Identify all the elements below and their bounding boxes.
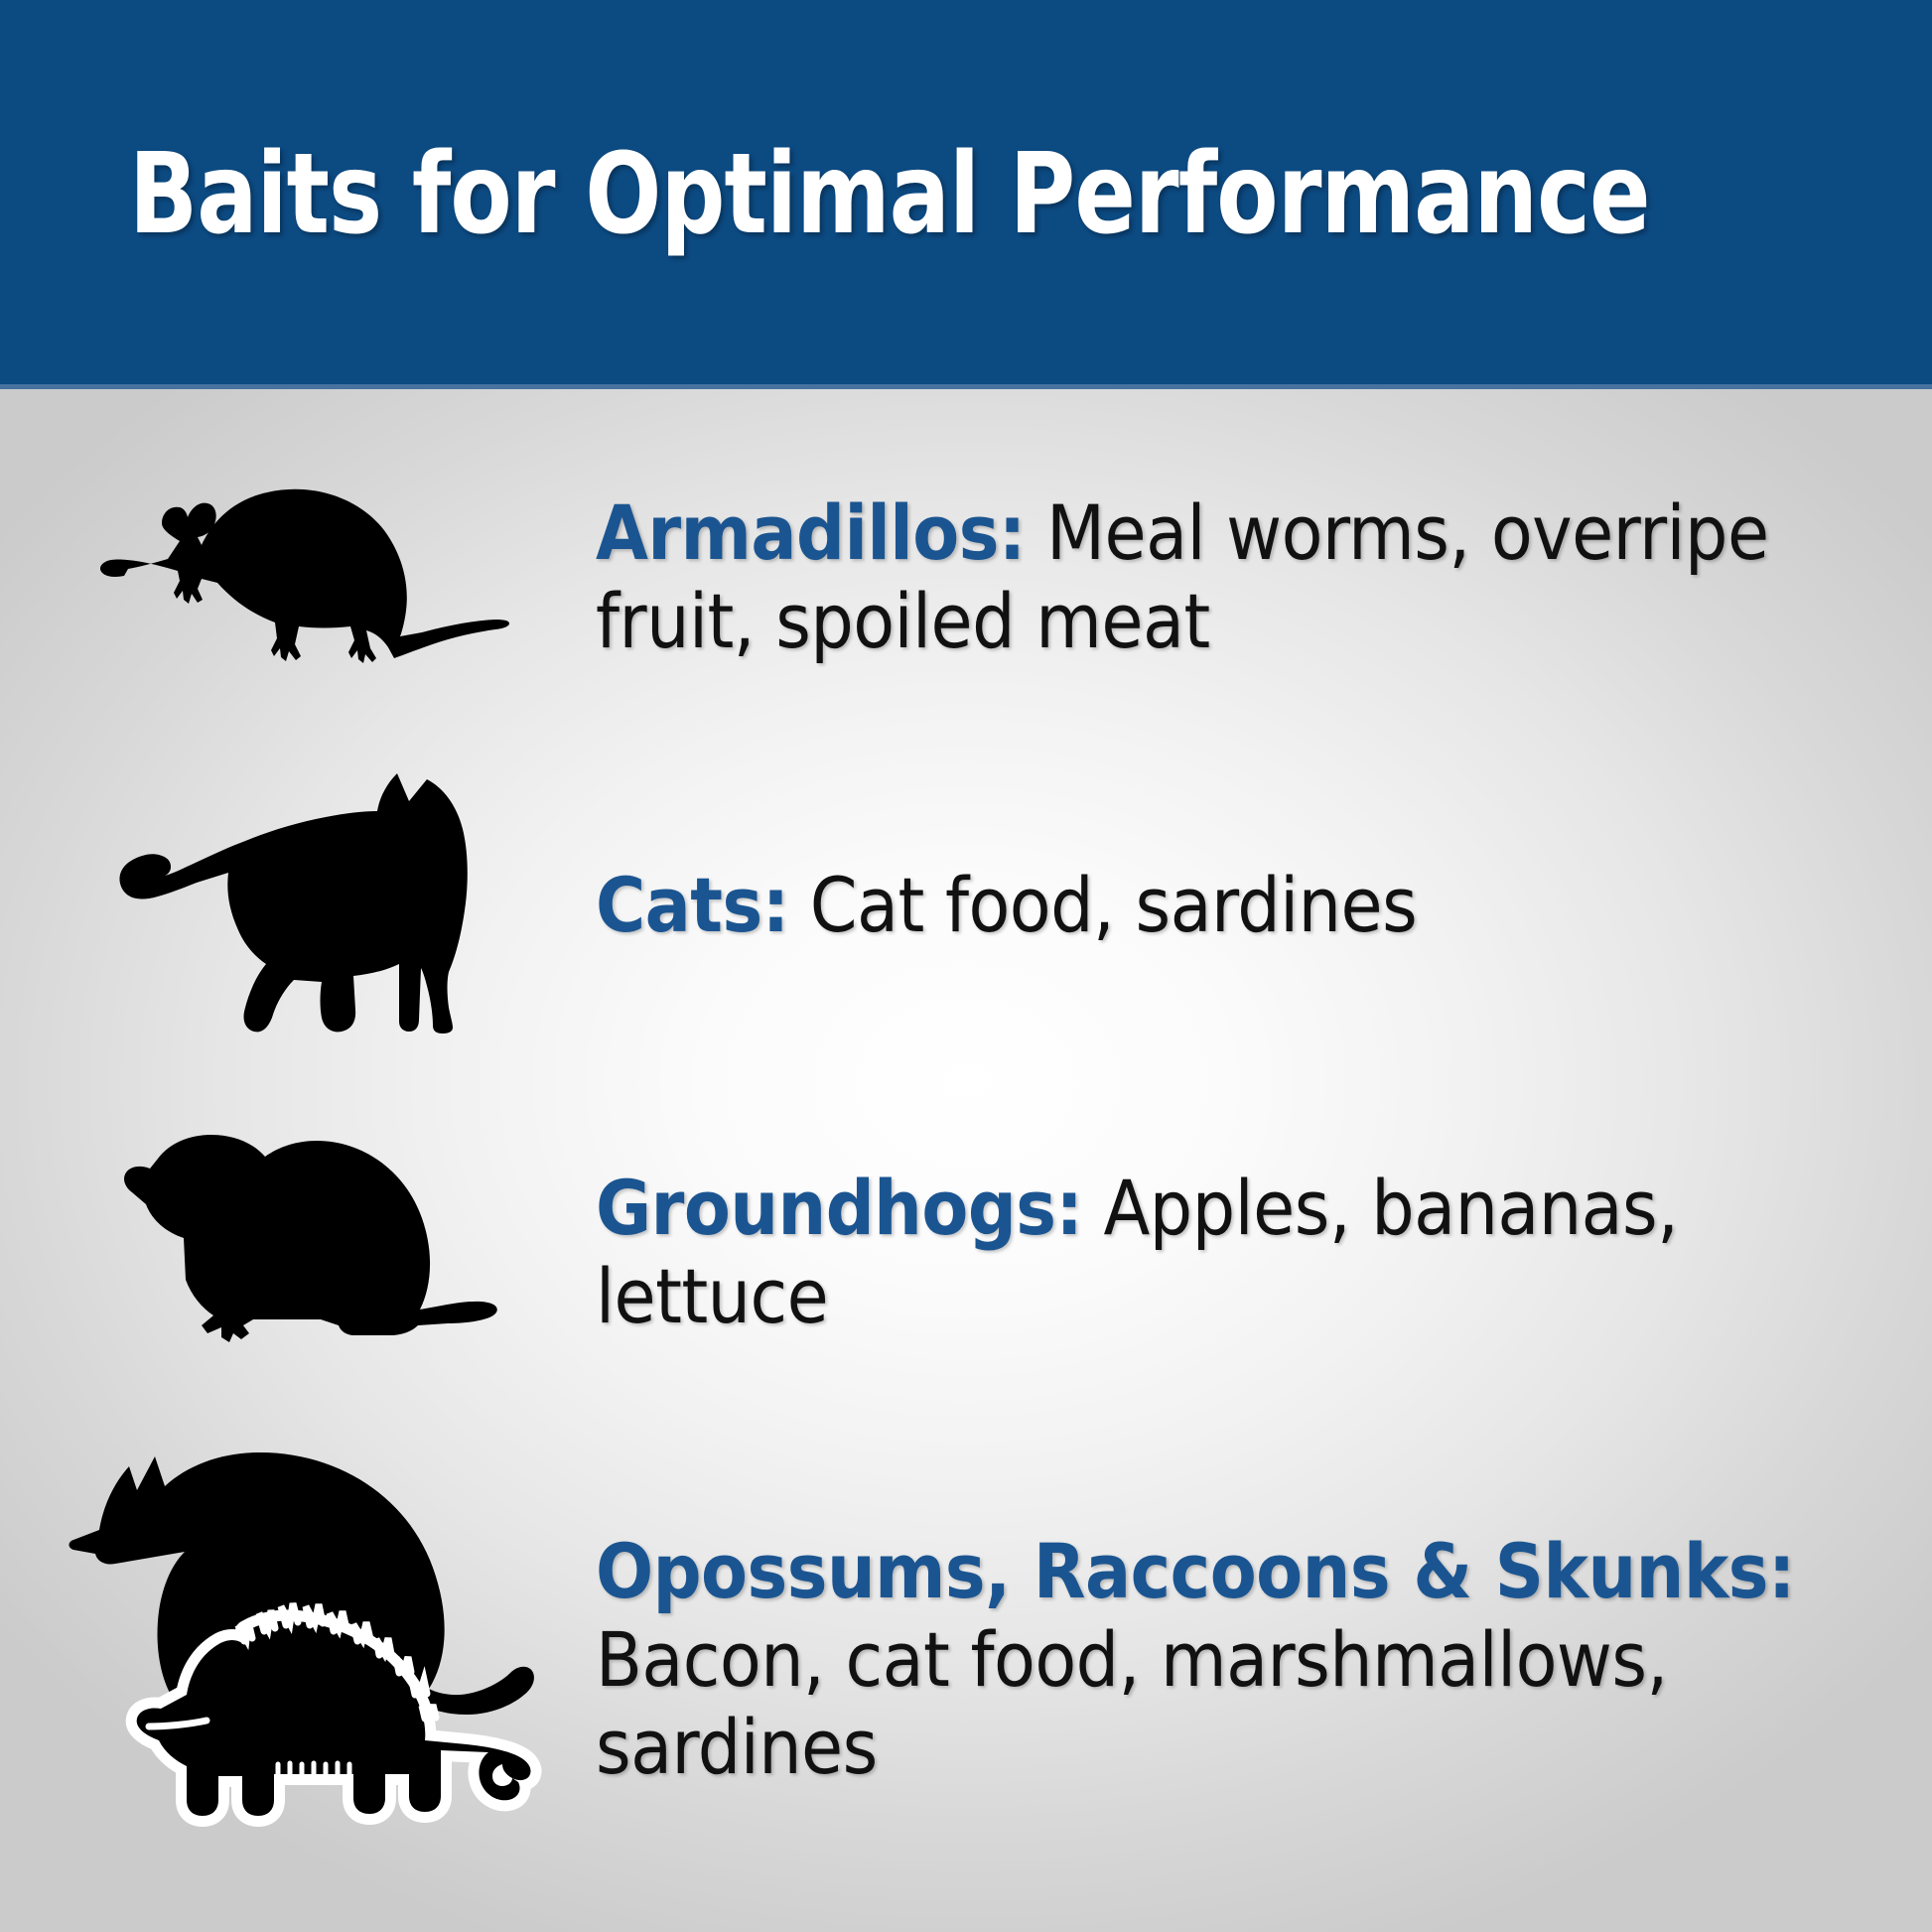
groundhogs-label: Groundhogs: <box>596 1164 1082 1252</box>
opossums-raccoons-skunks-label: Opossums, Raccoons & Skunks: <box>596 1527 1795 1615</box>
page-title: Baits for Optimal Performance <box>129 138 1819 251</box>
list-item-armadillos: Armadillos: Meal worms, overripe fruit, … <box>0 389 1932 766</box>
cat-icon <box>99 761 496 1049</box>
page-title-text: Baits for Optimal Performance <box>129 138 1650 251</box>
opossums-raccoons-skunks-description: Bacon, cat food, marshmallows, sardines <box>596 1615 1668 1792</box>
groundhog-icon-container <box>0 1064 596 1442</box>
armadillo-icon <box>84 464 511 692</box>
list-item-opossums-raccoons-skunks: Opossums, Raccoons & Skunks: Bacon, cat … <box>0 1402 1932 1918</box>
raccoon-opossum-icon-container <box>0 1402 596 1918</box>
cats-label: Cats: <box>596 861 789 949</box>
header-banner: Baits for Optimal Performance <box>0 0 1932 389</box>
armadillos-label: Armadillos: <box>596 488 1026 577</box>
opossums-bait-text: Opossums, Raccoons & Skunks: Bacon, cat … <box>596 1528 1932 1793</box>
groundhog-icon <box>94 1129 501 1377</box>
cat-icon-container <box>0 717 596 1094</box>
bait-list: Armadillos: Meal worms, overripe fruit, … <box>0 389 1932 1932</box>
list-item-groundhogs: Groundhogs: Apples, bananas, lettuce <box>0 1064 1932 1442</box>
cats-description: Cat food, sardines <box>810 861 1417 949</box>
cats-bait-text: Cats: Cat food, sardines <box>596 862 1932 950</box>
groundhogs-bait-text: Groundhogs: Apples, bananas, lettuce <box>596 1165 1932 1341</box>
bait-infographic-poster: Baits for Optimal Performance Armadillos… <box>0 0 1932 1932</box>
armadillo-icon-container <box>0 389 596 766</box>
armadillos-bait-text: Armadillos: Meal worms, overripe fruit, … <box>596 489 1932 666</box>
raccoon-and-opossum-icon <box>40 1447 556 1873</box>
list-item-cats: Cats: Cat food, sardines <box>0 717 1932 1094</box>
